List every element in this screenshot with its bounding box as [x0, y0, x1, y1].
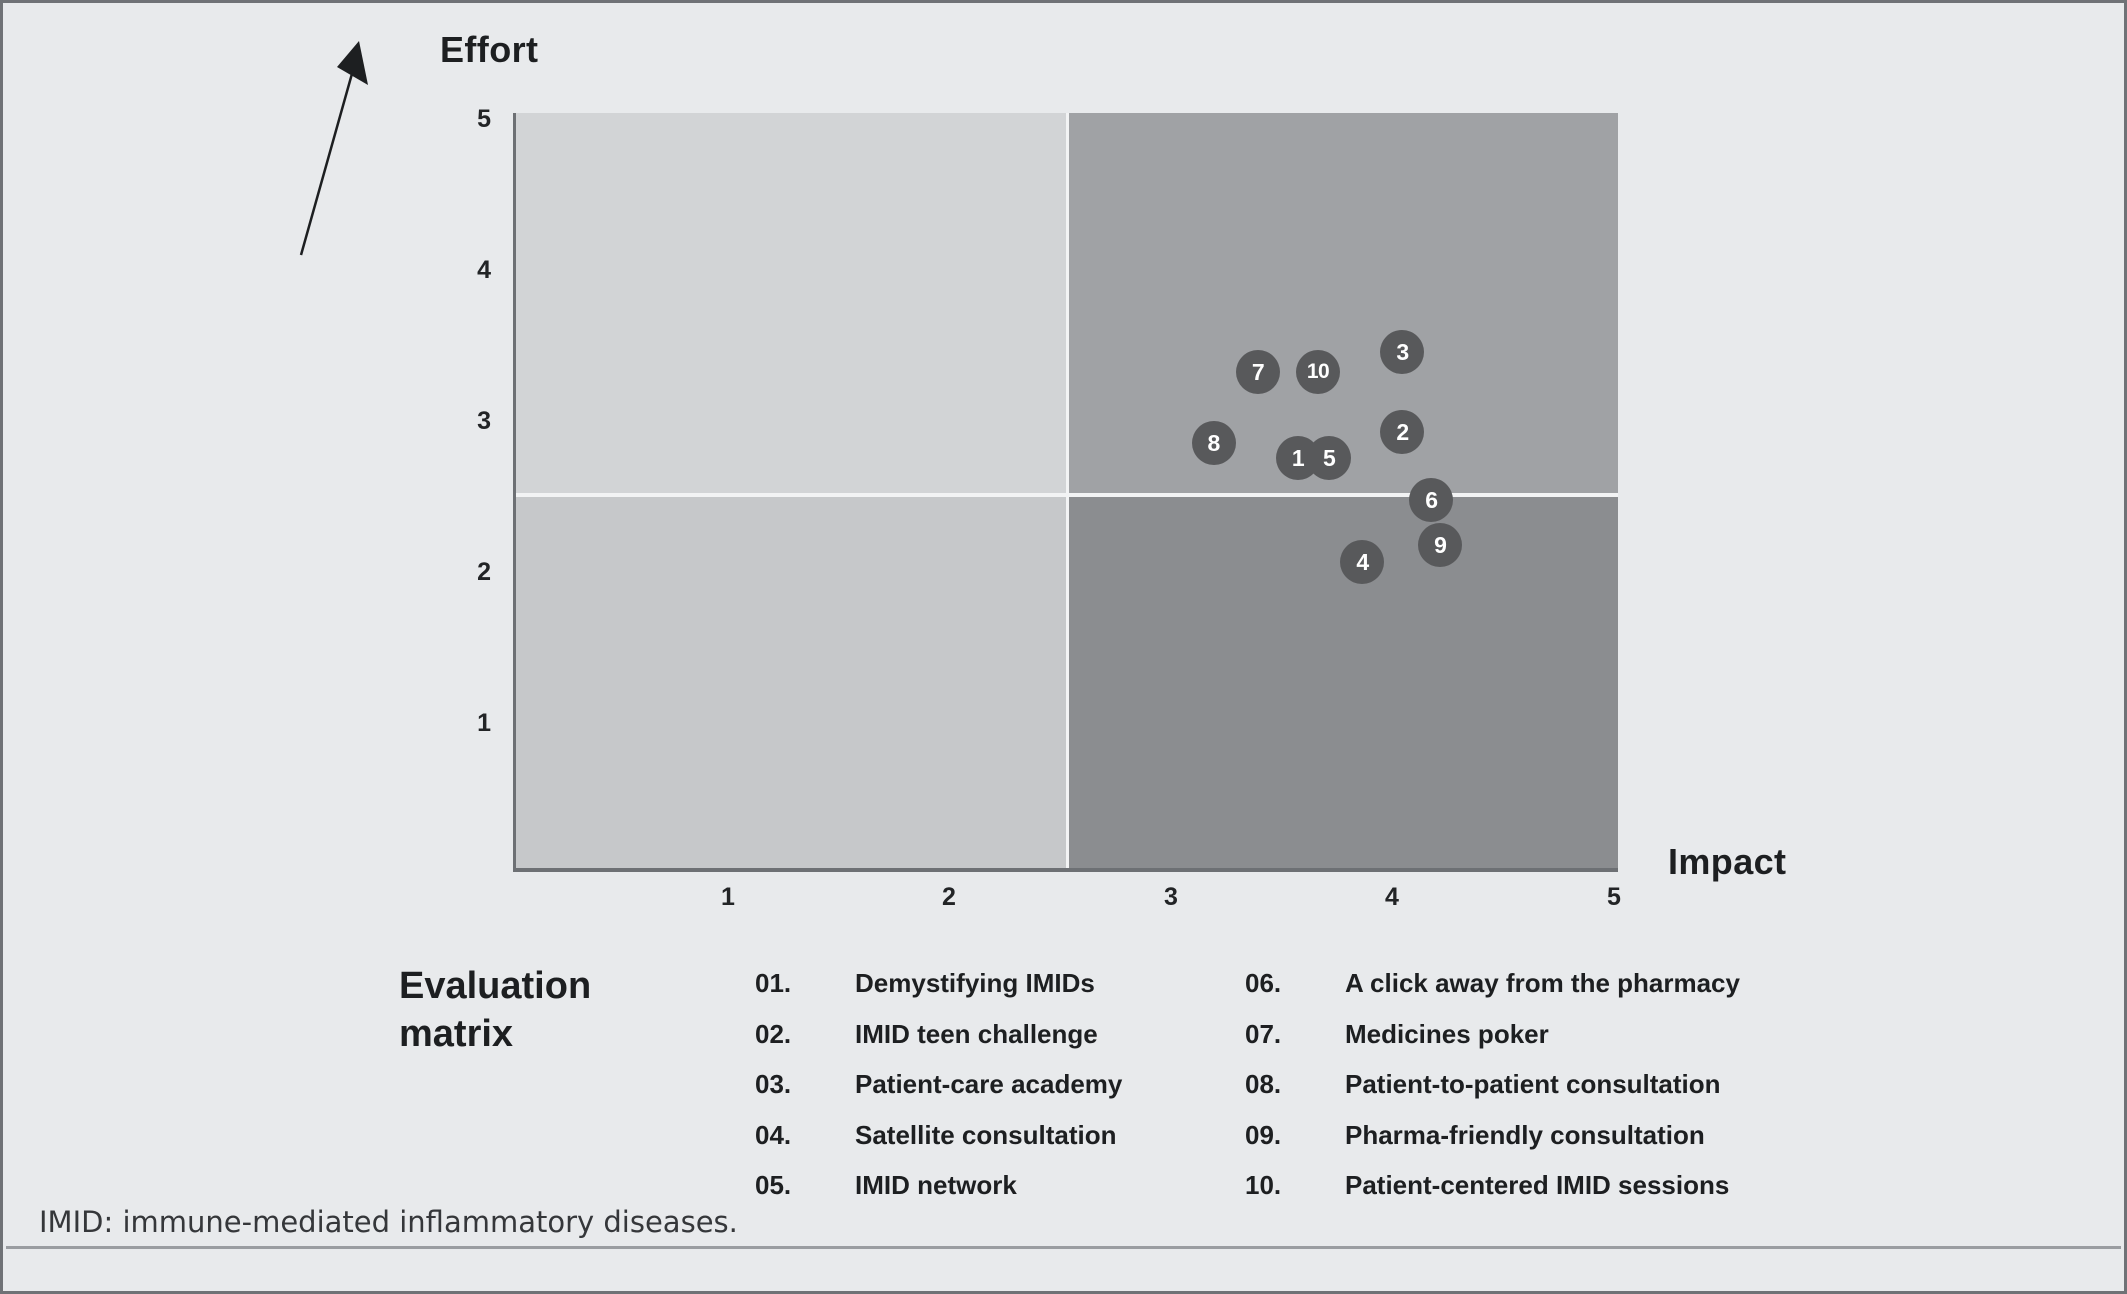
- x-axis-title: Impact: [1668, 841, 1786, 883]
- data-point-5[interactable]: 5: [1307, 436, 1351, 480]
- y-axis-line: [513, 113, 516, 868]
- y-tick-label-5: 5: [441, 105, 491, 134]
- legend-title: Evaluation matrix: [399, 963, 699, 1058]
- legend-column-right: 06.A click away from the pharmacy07.Medi…: [1245, 968, 1805, 1221]
- legend-item: 01.Demystifying IMIDs: [755, 968, 1245, 1019]
- legend-title-line-2: matrix: [399, 1011, 699, 1059]
- y-tick-label-2: 2: [441, 558, 491, 587]
- legend-item: 07.Medicines poker: [1245, 1019, 1805, 1070]
- legend-item-number: 03.: [755, 1069, 855, 1100]
- legend-item: 02.IMID teen challenge: [755, 1019, 1245, 1070]
- legend-item-number: 06.: [1245, 968, 1345, 999]
- y-tick-label-4: 4: [441, 256, 491, 285]
- legend-column-left: 01.Demystifying IMIDs02.IMID teen challe…: [755, 968, 1245, 1221]
- x-axis-line: [513, 868, 1618, 872]
- legend-item: 09.Pharma-friendly consultation: [1245, 1120, 1805, 1171]
- legend-item: 04.Satellite consultation: [755, 1120, 1245, 1171]
- y-axis-title: Effort: [440, 29, 538, 71]
- legend-item-label: Pharma-friendly consultation: [1345, 1120, 1705, 1151]
- legend-item: 05.IMID network: [755, 1170, 1245, 1221]
- quadrant-high-effort-high-impact: [1067, 113, 1618, 495]
- legend-item-number: 09.: [1245, 1120, 1345, 1151]
- legend-item-number: 07.: [1245, 1019, 1345, 1050]
- y-tick-label-3: 3: [441, 407, 491, 436]
- footnote-text: IMID: immune-mediated inflammatory disea…: [39, 1205, 738, 1239]
- legend-item: 10.Patient-centered IMID sessions: [1245, 1170, 1805, 1221]
- quadrant-high-effort-low-impact: [516, 113, 1067, 495]
- legend-item-label: Patient-care academy: [855, 1069, 1122, 1100]
- data-point-7[interactable]: 7: [1236, 350, 1280, 394]
- data-point-2[interactable]: 2: [1380, 410, 1424, 454]
- x-tick-label-4: 4: [1362, 883, 1422, 912]
- legend-item-number: 02.: [755, 1019, 855, 1050]
- quadrant-low-effort-low-impact: [516, 495, 1067, 868]
- legend-item-label: Patient-centered IMID sessions: [1345, 1170, 1729, 1201]
- legend-item: 06.A click away from the pharmacy: [1245, 968, 1805, 1019]
- evaluation-matrix-figure: Effort Impact 5 4 3 2 1 1 2 3 4 5 123456…: [0, 0, 2127, 1294]
- legend-item: 08.Patient-to-patient consultation: [1245, 1069, 1805, 1120]
- data-point-8[interactable]: 8: [1192, 421, 1236, 465]
- legend-item-number: 10.: [1245, 1170, 1345, 1201]
- legend-item-number: 08.: [1245, 1069, 1345, 1100]
- x-tick-label-1: 1: [698, 883, 758, 912]
- x-tick-label-3: 3: [1141, 883, 1201, 912]
- legend-item: 03.Patient-care academy: [755, 1069, 1245, 1120]
- legend-item-label: IMID network: [855, 1170, 1017, 1201]
- legend-item-label: IMID teen challenge: [855, 1019, 1098, 1050]
- quadrant-divider-vertical: [1066, 113, 1069, 868]
- footnote-divider: [6, 1246, 2121, 1249]
- x-tick-label-5: 5: [1584, 883, 1644, 912]
- legend-columns: 01.Demystifying IMIDs02.IMID teen challe…: [755, 968, 1805, 1221]
- x-tick-label-2: 2: [919, 883, 979, 912]
- legend-item-label: Medicines poker: [1345, 1019, 1549, 1050]
- legend-item-number: 01.: [755, 968, 855, 999]
- y-tick-label-1: 1: [441, 709, 491, 738]
- legend-item-label: Satellite consultation: [855, 1120, 1117, 1151]
- legend-item-label: Demystifying IMIDs: [855, 968, 1095, 999]
- effort-direction-arrow-icon: [293, 33, 383, 263]
- plot-area: 12345678910: [516, 113, 1618, 868]
- data-point-10[interactable]: 10: [1296, 350, 1340, 394]
- legend-item-label: Patient-to-patient consultation: [1345, 1069, 1721, 1100]
- data-point-4[interactable]: 4: [1340, 540, 1384, 584]
- legend-title-line-1: Evaluation: [399, 963, 699, 1011]
- legend-item-number: 05.: [755, 1170, 855, 1201]
- legend-item-label: A click away from the pharmacy: [1345, 968, 1740, 999]
- legend-item-number: 04.: [755, 1120, 855, 1151]
